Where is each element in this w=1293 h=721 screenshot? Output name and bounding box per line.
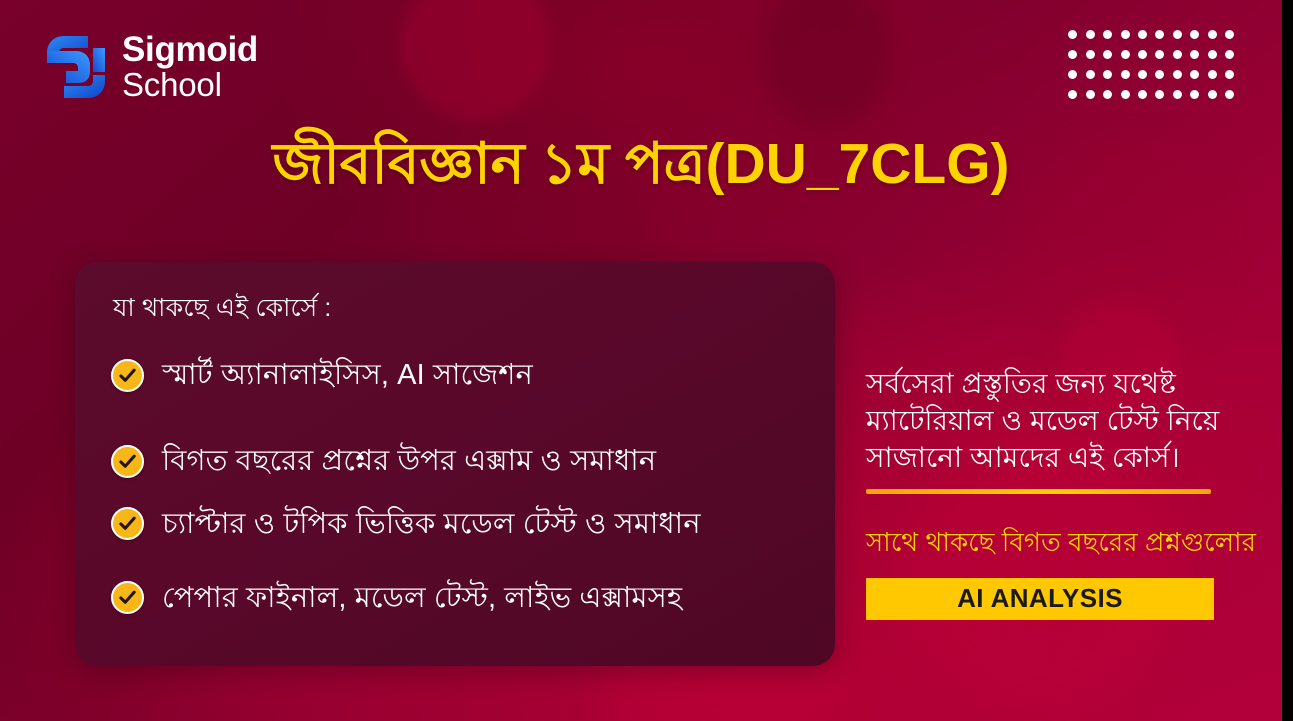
grid-dot [1173,50,1182,59]
bokeh-blob [760,0,890,130]
grid-dot [1190,50,1199,59]
grid-dot [1086,70,1095,79]
feature-label: স্মার্ট অ্যানালাইসিস, AI সাজেশন [162,357,533,393]
grid-dot [1225,90,1234,99]
course-title: জীববিজ্ঞান ১ম পত্র(DU_7CLG) [0,132,1282,198]
right-panel-divider [866,489,1211,494]
grid-dot [1103,70,1112,79]
brand-name: Sigmoid School [122,32,258,101]
feature-label: পেপার ফাইনাল, মডেল টেস্ট, লাইভ এক্সামসহ [162,580,682,616]
right-panel-subtitle: সাথে থাকছে বিগত বছরের প্রশ্নগুলোর [866,522,1282,566]
course-promo-poster: Sigmoid School জীববিজ্ঞান ১ম পত্র(DU_7CL… [0,0,1282,721]
right-panel-paragraph: সর্বসেরা প্রস্তুতির জন্য যথেষ্ট ম্যাটেরি… [866,366,1282,477]
grid-dot [1173,90,1182,99]
grid-dot [1155,30,1164,39]
check-circle-icon [111,359,144,392]
feature-label: চ্যাপ্টার ও টপিক ভিত্তিক মডেল টেস্ট ও সম… [162,506,701,542]
grid-dot [1155,90,1164,99]
features-list: স্মার্ট অ্যানালাইসিস, AI সাজেশন বিগত বছর… [105,357,805,616]
grid-dot [1190,70,1199,79]
grid-dot [1086,30,1095,39]
check-circle-icon [111,445,144,478]
grid-dot [1208,50,1217,59]
brand-name-line2: School [122,68,258,102]
grid-dot [1138,30,1147,39]
grid-dot [1103,50,1112,59]
grid-dot [1068,50,1077,59]
grid-dot [1155,70,1164,79]
feature-item: বিগত বছরের প্রশ্নের উপর এক্সাম ও সমাধান [111,443,805,479]
grid-dot [1138,90,1147,99]
grid-dot [1086,90,1095,99]
grid-dot [1121,30,1130,39]
features-card: যা থাকছে এই কোর্সে : স্মার্ট অ্যানালাইসি… [75,262,835,666]
check-circle-icon [111,507,144,540]
grid-dot [1103,30,1112,39]
check-circle-icon [111,581,144,614]
brand-logo[interactable]: Sigmoid School [44,30,258,104]
grid-dot [1190,90,1199,99]
grid-dot [1208,70,1217,79]
grid-dot [1173,30,1182,39]
feature-item: চ্যাপ্টার ও টপিক ভিত্তিক মডেল টেস্ট ও সম… [111,506,805,542]
grid-dot [1225,30,1234,39]
grid-dot [1138,70,1147,79]
ai-analysis-button[interactable]: AI ANALYSIS [866,578,1214,620]
right-panel: সর্বসেরা প্রস্তুতির জন্য যথেষ্ট ম্যাটেরি… [866,366,1282,620]
features-heading: যা থাকছে এই কোর্সে : [113,288,805,331]
grid-dot [1068,70,1077,79]
dot-grid-icon [1068,30,1234,99]
grid-dot [1121,70,1130,79]
right-edge-strip [1282,0,1293,721]
feature-item: স্মার্ট অ্যানালাইসিস, AI সাজেশন [111,357,805,393]
grid-dot [1208,30,1217,39]
grid-dot [1208,90,1217,99]
grid-dot [1121,90,1130,99]
grid-dot [1086,50,1095,59]
brand-name-line1: Sigmoid [122,32,258,68]
grid-dot [1068,30,1077,39]
feature-label: বিগত বছরের প্রশ্নের উপর এক্সাম ও সমাধান [162,443,656,479]
bokeh-blob [400,0,550,120]
grid-dot [1225,70,1234,79]
grid-dot [1225,50,1234,59]
grid-dot [1155,50,1164,59]
grid-dot [1173,70,1182,79]
grid-dot [1103,90,1112,99]
sigmoid-s-mark-icon [44,30,108,104]
grid-dot [1068,90,1077,99]
grid-dot [1190,30,1199,39]
grid-dot [1121,50,1130,59]
feature-item: পেপার ফাইনাল, মডেল টেস্ট, লাইভ এক্সামসহ [111,580,805,616]
grid-dot [1138,50,1147,59]
